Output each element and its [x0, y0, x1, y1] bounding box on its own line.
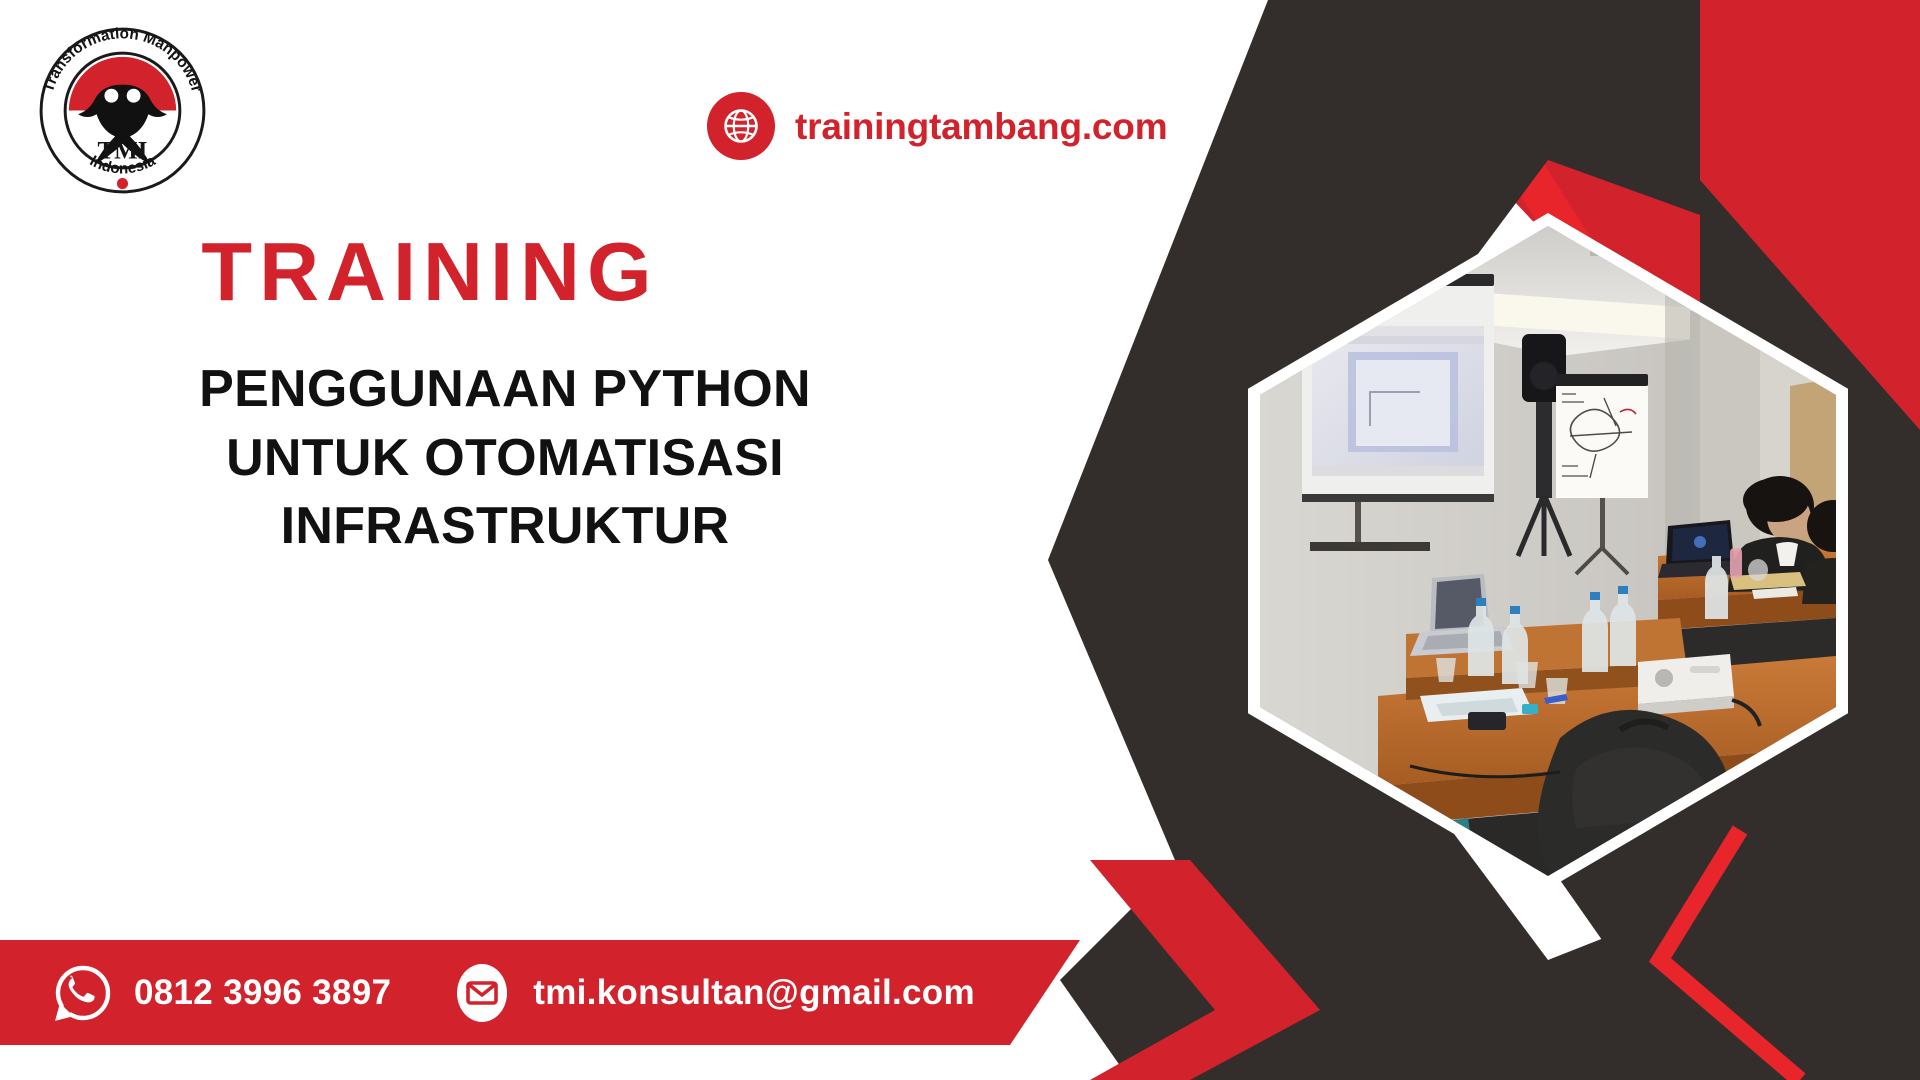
website-badge[interactable]: trainingtambang.com — [707, 92, 1167, 160]
envelope-icon — [451, 962, 513, 1024]
email-contact[interactable]: tmi.konsultan@gmail.com — [451, 962, 975, 1024]
subtitle-line-1: PENGGUNAAN PYTHON — [0, 355, 1010, 424]
poster-canvas: TMI Transformation Manpower Indonesia tr… — [0, 0, 1920, 1080]
phone-contact[interactable]: 0812 3996 3897 — [52, 962, 391, 1024]
page-title: TRAINING — [100, 230, 760, 313]
subtitle-line-2: UNTUK OTOMATISASI — [0, 424, 1010, 493]
subtitle-line-3: INFRASTRUKTUR — [0, 492, 1010, 561]
tmi-logo: TMI Transformation Manpower Indonesia — [30, 18, 215, 203]
website-url[interactable]: trainingtambang.com — [795, 108, 1167, 145]
whatsapp-icon — [52, 962, 114, 1024]
contact-bar: 0812 3996 3897 tmi.konsultan@gmail.com — [0, 940, 1080, 1045]
phone-number[interactable]: 0812 3996 3897 — [134, 973, 391, 1013]
course-subtitle: PENGGUNAAN PYTHON UNTUK OTOMATISASI INFR… — [0, 355, 1010, 561]
headline-block: TRAINING PENGGUNAAN PYTHON UNTUK OTOMATI… — [0, 230, 1000, 561]
tmi-logo-mark: TMI Transformation Manpower Indonesia — [30, 18, 215, 203]
email-address[interactable]: tmi.konsultan@gmail.com — [533, 973, 975, 1013]
globe-icon — [707, 92, 775, 160]
